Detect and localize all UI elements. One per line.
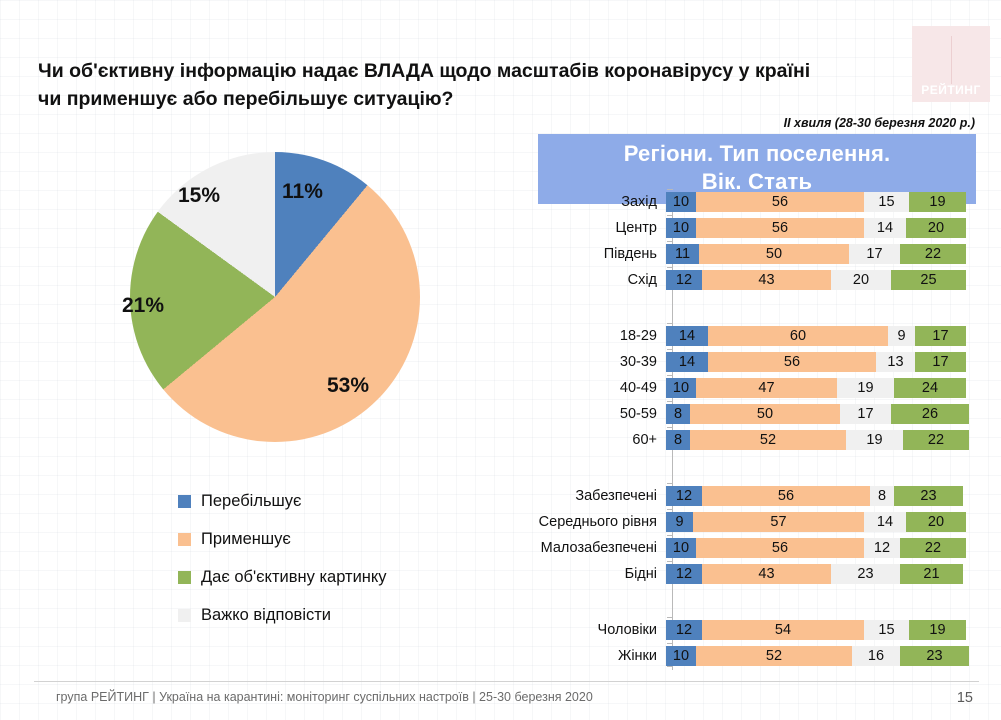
axis-tick [667,427,673,428]
bar-row: 18-291460917 [520,326,980,346]
bar-track: 10521623 [666,646,969,666]
legend-swatch-icon [178,533,191,546]
axis-tick [667,323,673,324]
logo-divider [951,36,952,84]
bar-track: 9571420 [666,512,966,532]
bar-row-label: Захід [520,194,666,210]
bar-row-label: 18-29 [520,328,666,344]
bar-track: 10471924 [666,378,966,398]
bar-segment: 20 [831,270,891,290]
bar-segment: 22 [900,538,966,558]
bar-track: 1460917 [666,326,966,346]
bar-segment: 56 [696,192,864,212]
bar-segment: 52 [690,430,846,450]
axis-tick [667,666,673,667]
bar-row: Центр10561420 [520,218,980,238]
bar-segment: 10 [666,192,696,212]
bar-segment: 26 [891,404,969,424]
bar-row-label: Бідні [520,566,666,582]
bar-track: 8521922 [666,430,969,450]
bar-row: 30-3914561317 [520,352,980,372]
bar-segment: 17 [915,352,966,372]
legend-item-label: Перебільшує [201,492,301,511]
bar-segment: 17 [840,404,891,424]
bar-segment: 20 [906,218,966,238]
axis-tick [667,267,673,268]
pie-slice-label: 53% [327,374,369,398]
bar-row: Схід12432025 [520,270,980,290]
bar-segment: 57 [693,512,864,532]
bar-segment: 11 [666,244,699,264]
bar-track: 14561317 [666,352,966,372]
footer-divider [34,681,979,682]
bar-segment: 56 [708,352,876,372]
bar-segment: 43 [702,564,831,584]
chart-legend: ПеребільшуєПрименшуєДає об'єктивну карти… [178,482,387,634]
bar-segment: 23 [831,564,900,584]
bar-segment: 21 [900,564,963,584]
wave-note: II хвиля (28-30 березня 2020 р.) [784,116,975,130]
bar-segment: 43 [702,270,831,290]
axis-tick [667,535,673,536]
legend-item-label: Дає об'єктивну картинку [201,568,387,587]
bar-row-label: 50-59 [520,406,666,422]
bar-segment: 9 [888,326,915,346]
bar-segment: 15 [864,192,909,212]
bar-track: 12541519 [666,620,966,640]
legend-item[interactable]: Дає об'єктивну картинку [178,558,387,596]
bar-segment: 10 [666,646,696,666]
bar-row-label: Жінки [520,648,666,664]
bar-track: 10561222 [666,538,966,558]
panel-title-line-1: Регіони. Тип поселення. [538,140,976,168]
bar-row-label: 40-49 [520,380,666,396]
legend-swatch-icon [178,609,191,622]
axis-tick [667,349,673,350]
bar-segment: 8 [870,486,894,506]
bar-row-label: 30-39 [520,354,666,370]
bar-row-label: Схід [520,272,666,288]
axis-tick [667,509,673,510]
page-title: Чи об'єктивну інформацію надає ВЛАДА щод… [38,58,838,113]
bar-track: 10561420 [666,218,966,238]
axis-tick [667,375,673,376]
bar-track: 12432025 [666,270,966,290]
bar-row: Малозабезпечені10561222 [520,538,980,558]
bar-row: Середнього рівня9571420 [520,512,980,532]
bar-segment: 12 [666,620,702,640]
axis-tick [667,215,673,216]
bar-segment: 25 [891,270,966,290]
axis-tick [667,643,673,644]
bar-segment: 50 [690,404,840,424]
legend-swatch-icon [178,495,191,508]
bar-segment: 56 [696,218,864,238]
axis-tick [667,561,673,562]
page-number: 15 [957,690,973,706]
bar-segment: 19 [846,430,903,450]
bar-segment: 17 [915,326,966,346]
pie-graphic [130,152,420,442]
bar-segment: 13 [876,352,915,372]
bar-segment: 19 [909,620,966,640]
bar-segment: 16 [852,646,900,666]
bar-segment: 12 [666,486,702,506]
bar-row: Жінки10521623 [520,646,980,666]
bar-segment: 52 [696,646,852,666]
axis-tick [667,483,673,484]
bar-segment: 22 [900,244,966,264]
bar-segment: 14 [666,326,708,346]
bar-track: 10561519 [666,192,966,212]
bar-segment: 60 [708,326,888,346]
bar-segment: 12 [864,538,900,558]
pie-slice-label: 15% [178,184,220,208]
bar-segment: 8 [666,404,690,424]
bar-row: Бідні12432321 [520,564,980,584]
bar-segment: 10 [666,218,696,238]
bar-row-label: Малозабезпечені [520,540,666,556]
bar-row-label: Середнього рівня [520,514,666,530]
bar-row: 50-598501726 [520,404,980,424]
logo-text: РЕЙТИНГ [921,83,981,102]
rating-group-logo: РЕЙТИНГ [912,26,990,102]
bar-row-label: 60+ [520,432,666,448]
stacked-bar-chart: Захід10561519Центр10561420Південь1150172… [520,192,980,672]
legend-item-label: Важко відповісти [201,606,331,625]
axis-tick [667,189,673,190]
axis-tick [667,241,673,242]
axis-tick [667,617,673,618]
bar-row: 40-4910471924 [520,378,980,398]
bar-segment: 22 [903,430,969,450]
bar-row-label: Південь [520,246,666,262]
bar-segment: 19 [837,378,894,398]
bar-segment: 15 [864,620,909,640]
legend-item[interactable]: Перебільшує [178,482,387,520]
legend-swatch-icon [178,571,191,584]
bar-row: Захід10561519 [520,192,980,212]
bar-row: Забезпечені1256823 [520,486,980,506]
bar-segment: 50 [699,244,849,264]
legend-item[interactable]: Важко відповісти [178,596,387,634]
bar-segment: 12 [666,270,702,290]
bar-segment: 14 [666,352,708,372]
bar-row-label: Забезпечені [520,488,666,504]
bar-segment: 20 [906,512,966,532]
pie-slice-label: 21% [122,294,164,318]
axis-tick [667,401,673,402]
bar-row: Південь11501722 [520,244,980,264]
bar-track: 11501722 [666,244,966,264]
legend-item[interactable]: Применшує [178,520,387,558]
bar-segment: 23 [900,646,969,666]
bar-row-label: Чоловіки [520,622,666,638]
bar-row: 60+8521922 [520,430,980,450]
bar-track: 8501726 [666,404,969,424]
bar-segment: 14 [864,218,906,238]
bar-track: 12432321 [666,564,963,584]
bar-segment: 23 [894,486,963,506]
bar-segment: 54 [702,620,864,640]
pie-slice-label: 11% [282,180,323,204]
legend-item-label: Применшує [201,530,291,549]
bar-segment: 17 [849,244,900,264]
bar-segment: 56 [696,538,864,558]
bar-segment: 19 [909,192,966,212]
bar-segment: 12 [666,564,702,584]
bar-row-label: Центр [520,220,666,236]
bar-segment: 24 [894,378,966,398]
bar-segment: 56 [702,486,870,506]
footer-text: група РЕЙТИНГ | Україна на карантині: мо… [56,690,593,704]
bar-segment: 8 [666,430,690,450]
bar-segment: 10 [666,538,696,558]
bar-track: 1256823 [666,486,963,506]
bar-segment: 10 [666,378,696,398]
bar-segment: 14 [864,512,906,532]
bar-row: Чоловіки12541519 [520,620,980,640]
bar-segment: 9 [666,512,693,532]
bar-segment: 47 [696,378,837,398]
pie-chart: 11%53%21%15% [130,152,420,442]
